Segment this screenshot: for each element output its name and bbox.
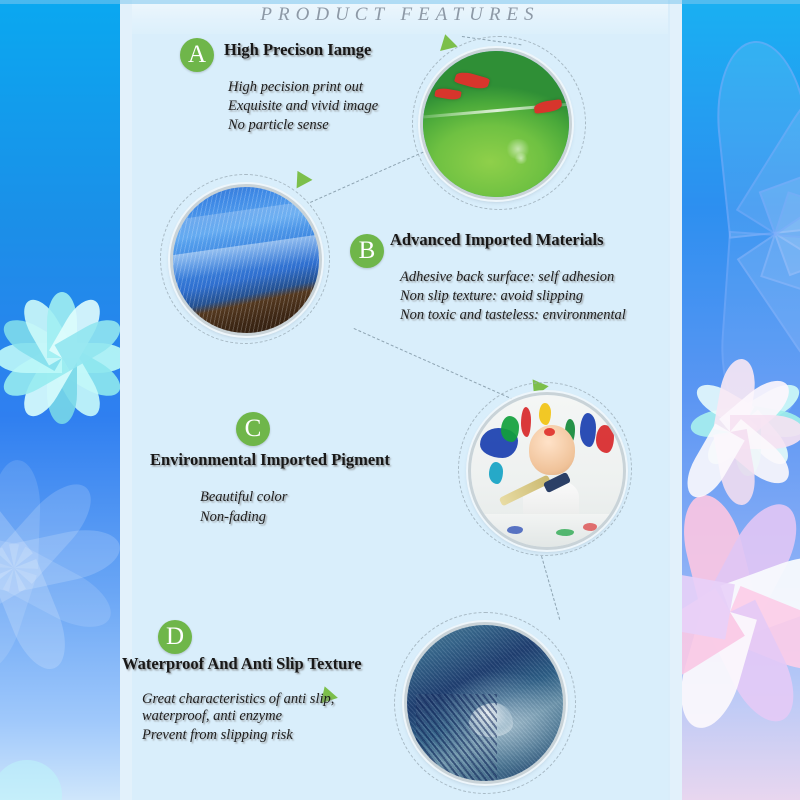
koi-lilypad-photo [420, 48, 572, 200]
connector-a-to-b [310, 152, 424, 203]
water-droplet-texture-image [407, 625, 563, 781]
section-body-c-line1: Beautiful color [200, 488, 287, 507]
section-body-a-line1: High pecision print out [228, 78, 363, 97]
right-decorative-border [682, 0, 800, 800]
top-rule [0, 0, 800, 4]
section-body-b-line1: Adhesive back surface: self adhesion [400, 268, 614, 287]
section-heading-d: Waterproof And Anti Slip Texture [122, 654, 362, 674]
bubble-decoration [0, 760, 62, 800]
section-heading-a: High Precison Iamge [224, 40, 371, 60]
product-features-poster: PRODUCT FEATURES A High Precison Iamge H… [0, 0, 800, 800]
section-heading-c: Environmental Imported Pigment [150, 450, 390, 470]
connector-c-to-d [541, 556, 560, 620]
section-badge-b: B [350, 234, 384, 268]
water-droplet-texture-photo [404, 622, 566, 784]
section-badge-d: D [158, 620, 192, 654]
section-badge-a: A [180, 38, 214, 72]
section-body-a-line3: No particle sense [228, 116, 329, 135]
section-body-c-line2: Non-fading [200, 508, 266, 527]
section-body-d-line3: Prevent from slipping risk [142, 726, 293, 745]
baby-painting-photo [468, 392, 626, 550]
koi-lilypad-image [423, 51, 569, 197]
section-heading-b: Advanced Imported Materials [390, 230, 604, 250]
arrow-to-b-icon [290, 167, 313, 189]
section-body-a-line2: Exquisite and vivid image [228, 97, 378, 116]
right-gutter [670, 0, 682, 800]
section-body-d-line2: waterproof, anti enzyme [142, 707, 282, 726]
left-decorative-border [0, 0, 120, 800]
blue-fabric-photo [170, 184, 322, 336]
section-body-b-line2: Non slip texture: avoid slipping [400, 287, 583, 306]
baby-painting-image [471, 395, 623, 547]
section-badge-c: C [236, 412, 270, 446]
section-body-b-line3: Non toxic and tasteless: environmental [400, 306, 626, 325]
page-title: PRODUCT FEATURES [132, 4, 668, 26]
left-gutter [120, 0, 132, 800]
content-panel: PRODUCT FEATURES A High Precison Iamge H… [132, 0, 668, 800]
blue-fabric-image [173, 187, 319, 333]
